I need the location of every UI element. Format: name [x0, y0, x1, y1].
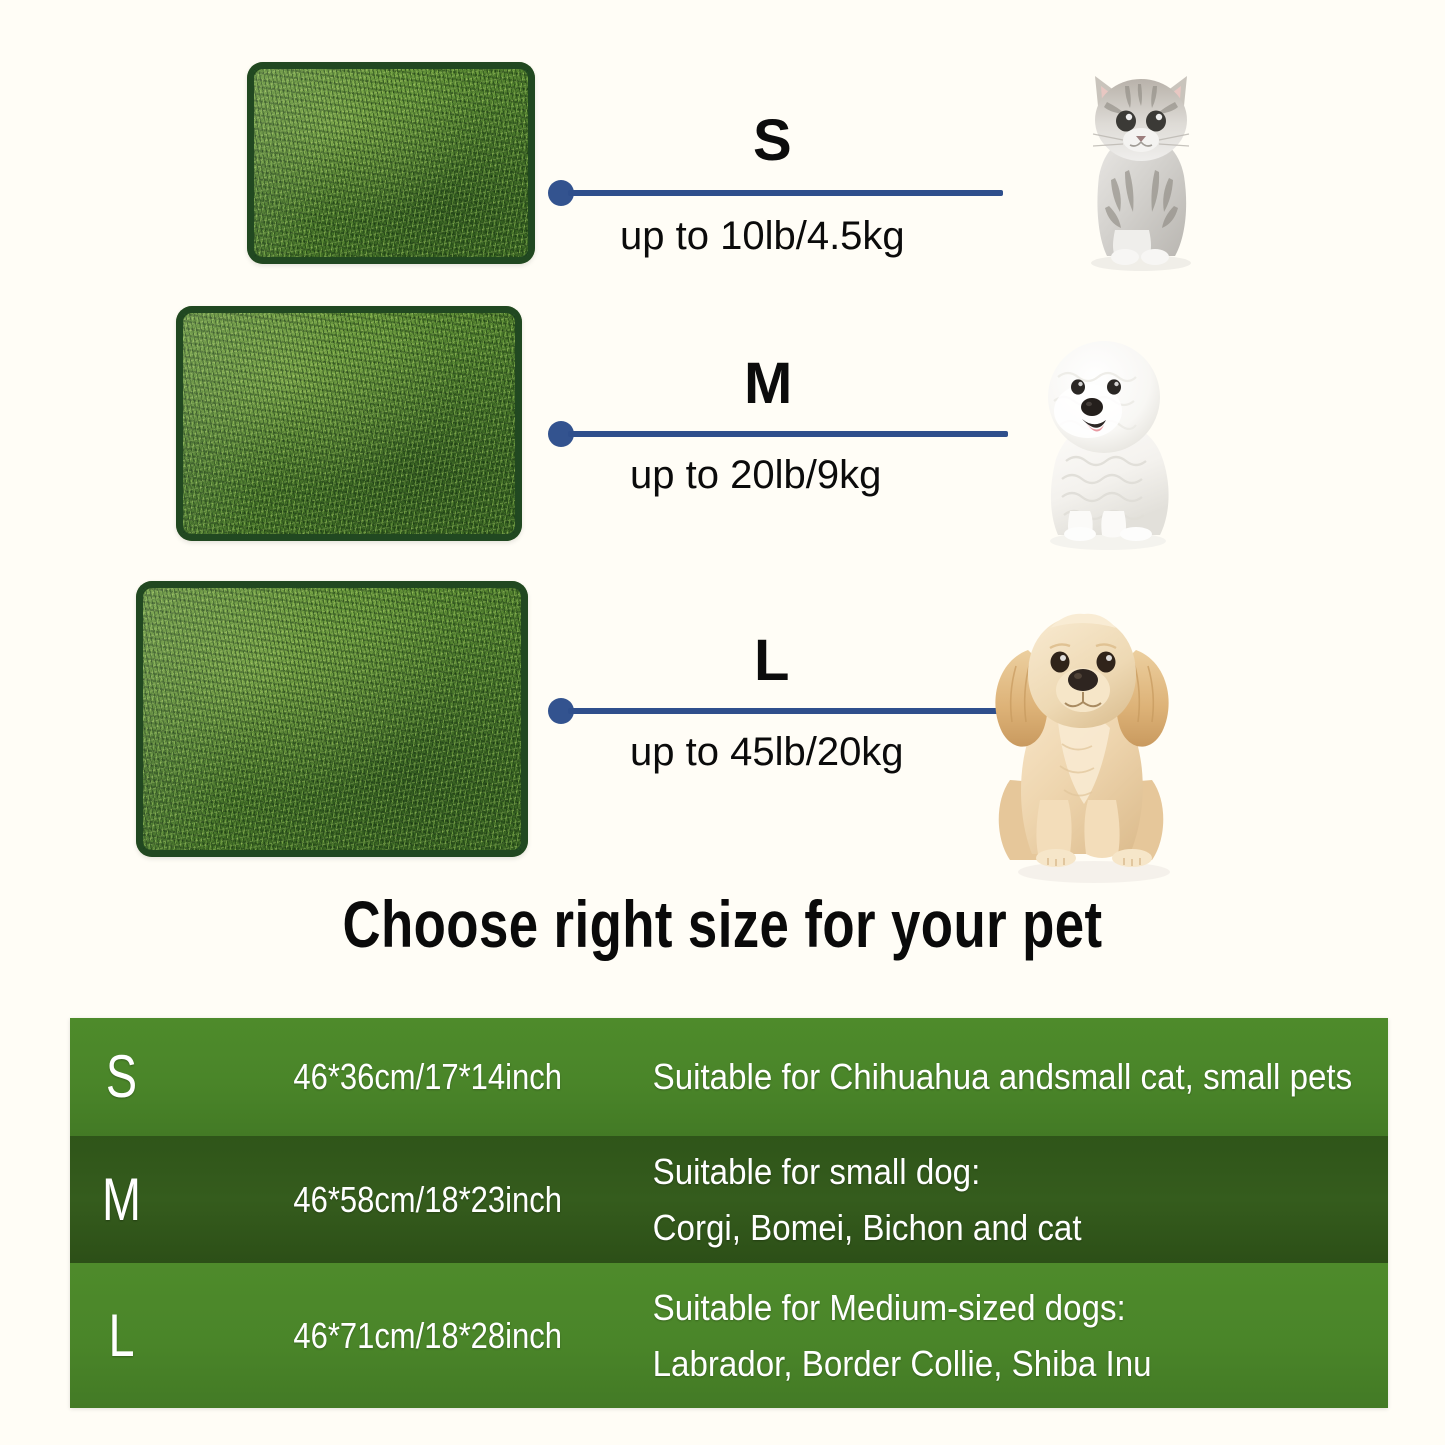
desc-line: Suitable for small dog: [653, 1144, 1327, 1200]
connector-bar-m [568, 431, 1008, 437]
weight-label-m: up to 20lb/9kg [630, 455, 881, 495]
desc-line: Labrador, Border Collie, Shiba Inu [653, 1336, 1327, 1392]
weight-label-s: up to 10lb/4.5kg [620, 216, 905, 256]
size-chart-page: S up to 10lb/4.5kg [0, 0, 1445, 1445]
weight-label-l: up to 45lb/20kg [630, 732, 904, 772]
table-size-m: M [81, 1170, 161, 1230]
desc-line: Suitable for Medium-sized dogs: [653, 1280, 1327, 1336]
kitten-image [1043, 58, 1239, 280]
desc-line: Corgi, Bomei, Bichon and cat [653, 1200, 1327, 1256]
cocker-spaniel-image [966, 604, 1222, 889]
page-title: Choose right size for your pet [145, 886, 1301, 962]
table-size-s: S [81, 1047, 161, 1107]
turf-texture [143, 588, 521, 850]
turf-texture [183, 313, 515, 534]
table-size-l: L [81, 1306, 161, 1366]
table-description-s: Suitable for Chihuahua andsmall cat, sma… [625, 1049, 1352, 1105]
medium-grass-mat [176, 306, 522, 541]
connector-bar-s [568, 190, 1003, 196]
size-letter-m: M [744, 355, 792, 413]
large-grass-mat [136, 581, 528, 857]
small-grass-mat [247, 62, 535, 264]
table-dimensions-l: 46*71cm/18*28inch [173, 1315, 562, 1356]
table-dimensions-s: 46*36cm/17*14inch [173, 1056, 562, 1097]
table-row-s: S 46*36cm/17*14inch Suitable for Chihuah… [70, 1018, 1388, 1136]
size-table: S 46*36cm/17*14inch Suitable for Chihuah… [70, 1018, 1388, 1408]
table-description-l: Suitable for Medium-sized dogs: Labrador… [625, 1280, 1327, 1392]
size-letter-l: L [754, 632, 789, 690]
table-description-m: Suitable for small dog: Corgi, Bomei, Bi… [625, 1144, 1327, 1256]
bichon-frise-image [1004, 331, 1216, 557]
table-dimensions-m: 46*58cm/18*23inch [173, 1179, 562, 1220]
desc-line: Suitable for Chihuahua andsmall cat, sma… [653, 1049, 1353, 1105]
table-row-l: L 46*71cm/18*28inch Suitable for Medium-… [70, 1263, 1388, 1408]
turf-texture [254, 69, 528, 257]
connector-bar-l [568, 708, 1005, 714]
size-letter-s: S [753, 112, 792, 170]
table-row-m: M 46*58cm/18*23inch Suitable for small d… [70, 1136, 1388, 1263]
